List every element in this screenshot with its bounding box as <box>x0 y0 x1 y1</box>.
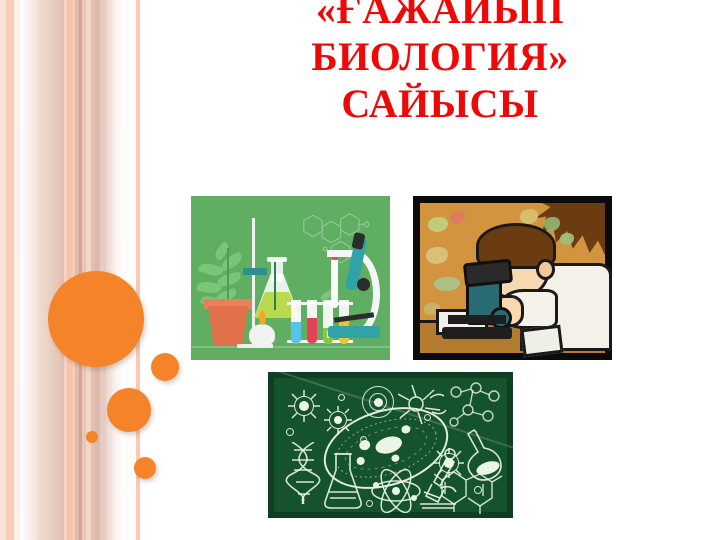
boy-ear <box>536 259 555 280</box>
page-title: «ҒАЖАЙЫП БИОЛОГИЯ» САЙЫСЫ <box>160 0 720 127</box>
flower-pot <box>208 306 248 346</box>
test-tube <box>291 300 301 344</box>
stripe-19 <box>106 0 114 540</box>
small-orange-circle-lower <box>134 457 156 479</box>
burner-flame <box>259 311 266 325</box>
atom-doodle <box>370 468 422 514</box>
virus-doodle <box>286 388 322 424</box>
stripe-2 <box>6 0 14 540</box>
microbe-doodle <box>434 277 460 291</box>
chalk-speck <box>360 436 367 443</box>
tiny-orange-circle <box>86 431 98 443</box>
thermometer <box>274 262 276 310</box>
chalk-speck <box>286 428 294 436</box>
stripe-20 <box>114 0 124 540</box>
microscope <box>318 238 384 346</box>
spirit-burner <box>249 324 275 346</box>
test-tube <box>307 300 317 344</box>
microscope-base <box>442 327 512 339</box>
microscope-focus-knob <box>357 278 370 291</box>
chemical-structure-doodle <box>434 462 506 516</box>
stripe-7 <box>38 0 60 540</box>
virus-doodle <box>322 404 354 436</box>
microbe-doodle <box>428 217 448 232</box>
green-laboratory-illustration <box>191 196 390 360</box>
chalk-speck <box>366 500 373 507</box>
chalk-speck <box>474 486 482 494</box>
small-orange-circle-upper <box>151 353 179 381</box>
chalkboard-biology-doodles <box>268 372 513 518</box>
medium-orange-circle <box>107 388 151 432</box>
chalkboard-surface <box>274 378 507 512</box>
microbe-doodle <box>450 211 465 224</box>
floor-line <box>191 346 390 348</box>
large-orange-circle <box>48 271 144 367</box>
dna-helix-doodle <box>284 442 324 504</box>
flask-lip <box>267 257 287 262</box>
microscope-eyepiece <box>463 259 513 288</box>
conical-flask-doodle <box>322 452 364 510</box>
cartoon-canvas <box>420 203 605 353</box>
stripe-6 <box>20 0 38 540</box>
chalk-speck <box>338 394 345 401</box>
molecule-chain-doodle <box>446 382 508 428</box>
plant-leaf <box>198 261 224 279</box>
vertical-stripe-band <box>0 0 160 540</box>
chalk-speck <box>424 414 431 421</box>
microscope-stage <box>448 315 506 324</box>
microscope-base <box>328 326 380 338</box>
stripe-21 <box>124 0 136 540</box>
boy-at-microscope-cartoon <box>413 196 612 360</box>
microbe-doodle <box>520 209 538 224</box>
plant-stem <box>227 248 229 300</box>
microbe-doodle <box>426 247 448 264</box>
cell-doodle-nucleus <box>374 398 383 407</box>
flask-neck <box>271 260 283 282</box>
glass-slide <box>520 325 563 358</box>
radiolarian-doodle <box>398 382 448 428</box>
presentation-slide: «ҒАЖАЙЫП БИОЛОГИЯ» САЙЫСЫ <box>0 0 720 540</box>
